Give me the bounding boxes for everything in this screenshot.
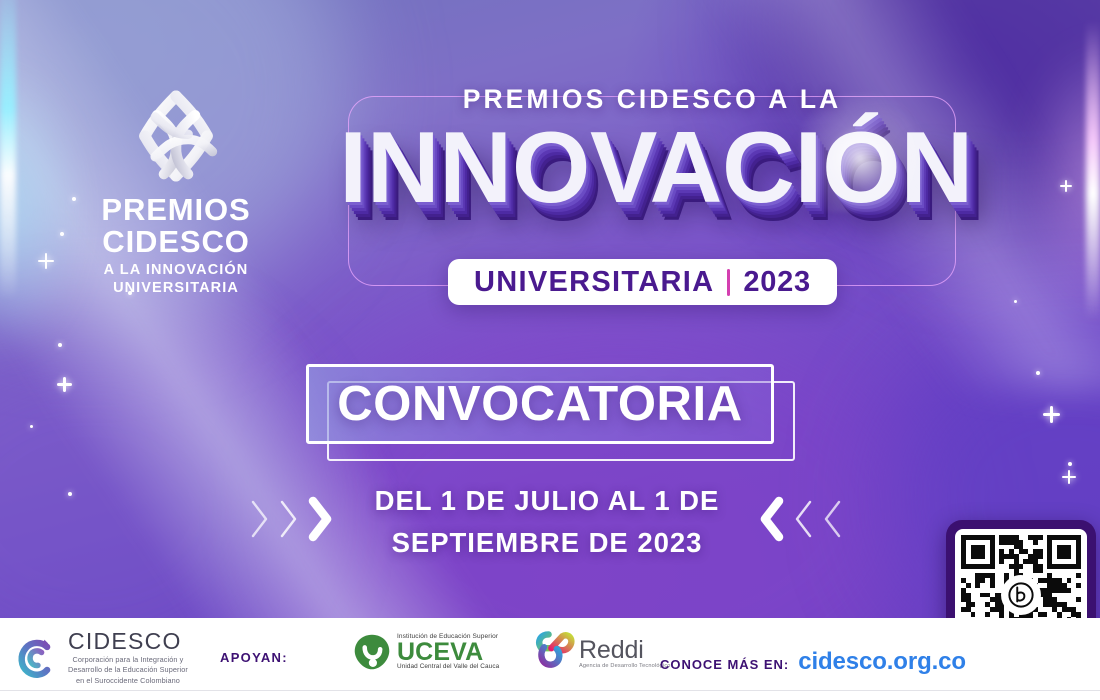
cidesco-brand-lockup: PREMIOS CIDESCO A LA INNOVACIÓN UNIVERSI… bbox=[86, 84, 266, 298]
chevron-group-left bbox=[248, 494, 336, 549]
dates-line-1: DEL 1 DE JULIO AL 1 DE bbox=[352, 480, 742, 522]
footer-divider bbox=[0, 690, 1100, 691]
chevron-right-icon bbox=[248, 496, 274, 547]
convocatoria-label: CONVOCATORIA bbox=[337, 376, 742, 432]
footer-apoyan-label: APOYAN: bbox=[220, 650, 288, 665]
footer-cidesco-tagline: Corporación para la Integración y Desarr… bbox=[68, 655, 188, 686]
footer-cidesco-tagline-1: Corporación para la Integración y bbox=[68, 655, 188, 665]
pill-label-universitaria: UNIVERSITARIA bbox=[474, 266, 714, 299]
sparkle-cross-icon bbox=[1043, 406, 1060, 423]
footer-cidesco-tagline-3: en el Suroccidente Colombiano bbox=[68, 676, 188, 686]
sparkle-cross-icon bbox=[1062, 470, 1076, 484]
sparkle-dot bbox=[72, 197, 76, 201]
footer-cidesco-tagline-2: Desarrollo de la Educación Superior bbox=[68, 665, 188, 675]
brand-line-cidesco: CIDESCO bbox=[86, 226, 266, 258]
footer-uceva-text: Institución de Educación Superior UCEVA … bbox=[397, 634, 499, 671]
footer-uceva-name: UCEVA bbox=[397, 640, 499, 664]
footer-cidesco-logo: CIDESCO Corporación para la Integración … bbox=[14, 630, 188, 686]
dates-line-2: SEPTIEMBRE DE 2023 bbox=[352, 522, 742, 564]
edge-light-streak-left bbox=[0, 0, 16, 300]
footer-reddi-tagline: Agencia de Desarrollo Tecnológico bbox=[579, 664, 671, 670]
footer-reddi-text: Reddi Agencia de Desarrollo Tecnológico bbox=[579, 638, 671, 675]
pill-separator bbox=[727, 269, 730, 296]
pill-label-year: 2023 bbox=[743, 266, 810, 299]
footer-uceva-line-3: Unidad Central del Valle del Cauca bbox=[397, 664, 499, 670]
sparkle-dot bbox=[1036, 371, 1040, 375]
uceva-leaf-icon bbox=[352, 632, 392, 672]
footer-reddi-logo: Reddi Agencia de Desarrollo Tecnológico bbox=[533, 625, 671, 675]
footer-more-label: CONOCE MÁS EN: bbox=[660, 657, 789, 672]
chevron-right-icon bbox=[306, 494, 336, 549]
convocatoria-banner: CONVOCATORIA bbox=[306, 364, 774, 444]
brand-line-premios: PREMIOS bbox=[86, 194, 266, 226]
edge-light-streak-right bbox=[1086, 20, 1100, 320]
sparkle-dot bbox=[1068, 462, 1072, 466]
chevron-left-icon bbox=[818, 496, 844, 547]
cidesco-swirl-icon bbox=[14, 635, 60, 681]
reddi-knot-icon bbox=[533, 625, 577, 675]
brand-sub-line-2: UNIVERSITARIA bbox=[86, 280, 266, 298]
chevron-group-right bbox=[756, 494, 844, 549]
sparkle-dot bbox=[1014, 300, 1017, 303]
footer-cidesco-name: CIDESCO bbox=[68, 630, 188, 653]
brand-subtitle: A LA INNOVACIÓN UNIVERSITARIA bbox=[86, 262, 266, 298]
headline-kicker: PREMIOS CIDESCO A LA bbox=[348, 84, 956, 115]
sparkle-cross-icon bbox=[1060, 180, 1072, 192]
sparkle-dot bbox=[68, 492, 72, 496]
footer-website-url[interactable]: cidesco.org.co bbox=[798, 648, 966, 676]
chevron-left-icon bbox=[756, 494, 786, 549]
footer-cidesco-text: CIDESCO Corporación para la Integración … bbox=[68, 630, 188, 686]
convocatoria-dates: DEL 1 DE JULIO AL 1 DE SEPTIEMBRE DE 202… bbox=[352, 480, 742, 564]
universitaria-year-pill: UNIVERSITARIA 2023 bbox=[448, 259, 837, 305]
sparkle-dot bbox=[58, 343, 62, 347]
footer-website-block: CONOCE MÁS EN: cidesco.org.co bbox=[660, 648, 966, 676]
chevron-right-icon bbox=[277, 496, 303, 547]
footer-uceva-logo: Institución de Educación Superior UCEVA … bbox=[352, 632, 499, 672]
headline-title: INNOVACIÓN bbox=[296, 118, 1016, 219]
cidesco-knot-mark-icon bbox=[124, 84, 228, 188]
footer-reddi-name: Reddi bbox=[579, 638, 671, 663]
brand-name: PREMIOS CIDESCO bbox=[86, 194, 266, 257]
sparkle-dot bbox=[30, 425, 33, 428]
brand-sub-line-1: A LA INNOVACIÓN bbox=[86, 262, 266, 280]
sparkle-cross-icon bbox=[38, 253, 54, 269]
sparkle-cross-icon bbox=[57, 377, 72, 392]
sparkle-dot bbox=[60, 232, 64, 236]
bitly-b-icon bbox=[1001, 575, 1041, 615]
poster-canvas: PREMIOS CIDESCO A LA INNOVACIÓN UNIVERSI… bbox=[0, 0, 1100, 700]
chevron-left-icon bbox=[789, 496, 815, 547]
